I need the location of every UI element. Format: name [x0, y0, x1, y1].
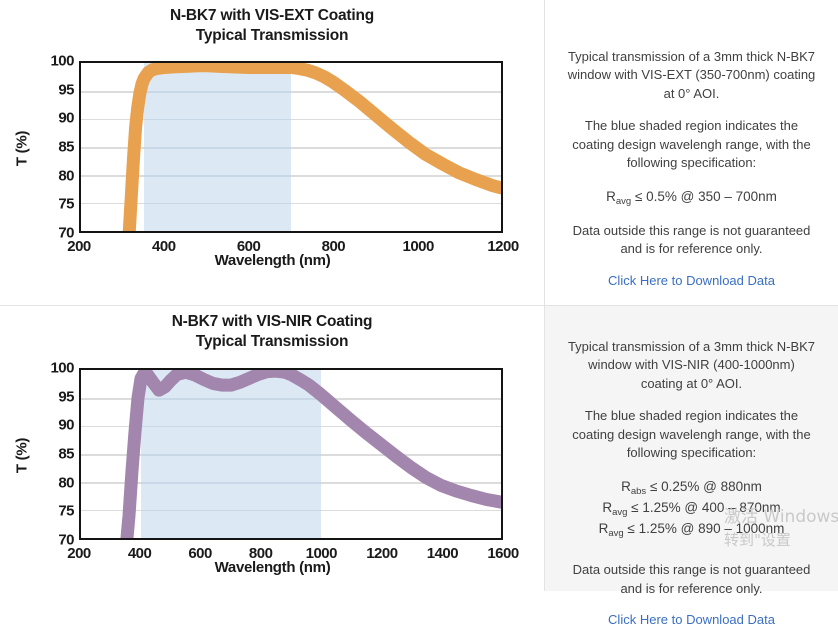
transmission-curve-vis-nir — [81, 370, 501, 538]
chart-title-vis-nir: N-BK7 with VIS-NIR Coating Typical Trans… — [0, 306, 544, 352]
plot-area-vis-ext — [79, 61, 503, 233]
x-axis-label-top: Wavelength (nm) — [0, 252, 545, 269]
description-paragraph-1: Typical transmission of a 3mm thick N-BK… — [567, 48, 816, 103]
specification-list-top: Ravg ≤ 0.5% @ 350 – 700nm — [567, 187, 816, 208]
spec-symbol: R — [599, 521, 609, 536]
description-paragraph-3: Data outside this range is not guarantee… — [567, 561, 816, 598]
spec-subscript: avg — [608, 528, 623, 539]
y-axis-label-bottom: T (%) — [14, 426, 31, 486]
spec-value: ≤ 1.25% @ 890 – 1000nm — [624, 521, 785, 536]
y-tick: 85 — [34, 139, 74, 156]
chart-title-line1: N-BK7 with VIS-EXT Coating — [170, 7, 374, 24]
vis-ext-description-cell: Typical transmission of a 3mm thick N-BK… — [545, 0, 838, 306]
chart-title-vis-ext: N-BK7 with VIS-EXT Coating Typical Trans… — [0, 0, 544, 46]
plot-frame — [79, 61, 503, 233]
y-tick: 85 — [34, 446, 74, 463]
description-block-top: Typical transmission of a 3mm thick N-BK… — [567, 48, 816, 288]
spec-value: ≤ 0.5% @ 350 – 700nm — [631, 189, 777, 204]
transmission-curve-vis-ext — [81, 63, 501, 231]
description-block-bottom: Typical transmission of a 3mm thick N-BK… — [567, 338, 816, 627]
spec-value: ≤ 1.25% @ 400 – 870nm — [627, 500, 780, 515]
vis-nir-chart-cell: N-BK7 with VIS-NIR Coating Typical Trans… — [0, 306, 545, 591]
vis-nir-row: N-BK7 with VIS-NIR Coating Typical Trans… — [0, 306, 838, 591]
spec-line: Ravg ≤ 0.5% @ 350 – 700nm — [567, 187, 816, 208]
y-tick: 80 — [34, 167, 74, 184]
chart-title-line1: N-BK7 with VIS-NIR Coating — [172, 313, 373, 330]
spec-symbol: R — [606, 189, 616, 204]
vis-nir-description-cell: Typical transmission of a 3mm thick N-BK… — [545, 306, 838, 591]
spec-subscript: avg — [616, 196, 631, 207]
y-tick: 95 — [34, 81, 74, 98]
spec-symbol: R — [602, 500, 612, 515]
spec-line: Ravg ≤ 1.25% @ 400 – 870nm — [567, 498, 816, 519]
x-axis-label-bottom: Wavelength (nm) — [0, 559, 545, 576]
vis-ext-chart-cell: N-BK7 with VIS-EXT Coating Typical Trans… — [0, 0, 545, 306]
y-tick: 90 — [34, 110, 74, 127]
description-paragraph-1: Typical transmission of a 3mm thick N-BK… — [567, 338, 816, 393]
download-data-link-bottom[interactable]: Click Here to Download Data — [567, 612, 816, 627]
plot-area-vis-nir — [79, 368, 503, 540]
spec-subscript: avg — [612, 507, 627, 518]
spec-subscript: abs — [631, 486, 646, 497]
chart-title-line2: Typical Transmission — [0, 332, 544, 352]
spec-symbol: R — [621, 479, 631, 494]
y-tick: 75 — [34, 196, 74, 213]
y-tick: 75 — [34, 503, 74, 520]
vis-ext-row: N-BK7 with VIS-EXT Coating Typical Trans… — [0, 0, 838, 306]
specification-list-bottom: Rabs ≤ 0.25% @ 880nm Ravg ≤ 1.25% @ 400 … — [567, 477, 816, 540]
y-tick: 95 — [34, 388, 74, 405]
description-paragraph-2: The blue shaded region indicates the coa… — [567, 407, 816, 462]
transmission-charts-page: N-BK7 with VIS-EXT Coating Typical Trans… — [0, 0, 838, 591]
description-paragraph-2: The blue shaded region indicates the coa… — [567, 117, 816, 172]
y-tick: 90 — [34, 417, 74, 434]
download-data-link-top[interactable]: Click Here to Download Data — [567, 273, 816, 288]
y-tick: 80 — [34, 474, 74, 491]
y-tick: 100 — [34, 53, 74, 70]
spec-line: Ravg ≤ 1.25% @ 890 – 1000nm — [567, 519, 816, 540]
plot-frame — [79, 368, 503, 540]
y-axis-ticks-bottom: 100 95 90 85 80 75 70 — [28, 368, 74, 540]
y-axis-ticks-top: 100 95 90 85 80 75 70 — [28, 61, 74, 233]
spec-line: Rabs ≤ 0.25% @ 880nm — [567, 477, 816, 498]
y-tick: 100 — [34, 360, 74, 377]
y-axis-label-top: T (%) — [14, 119, 31, 179]
description-paragraph-3: Data outside this range is not guarantee… — [567, 222, 816, 259]
spec-value: ≤ 0.25% @ 880nm — [646, 479, 762, 494]
chart-title-line2: Typical Transmission — [0, 26, 544, 46]
